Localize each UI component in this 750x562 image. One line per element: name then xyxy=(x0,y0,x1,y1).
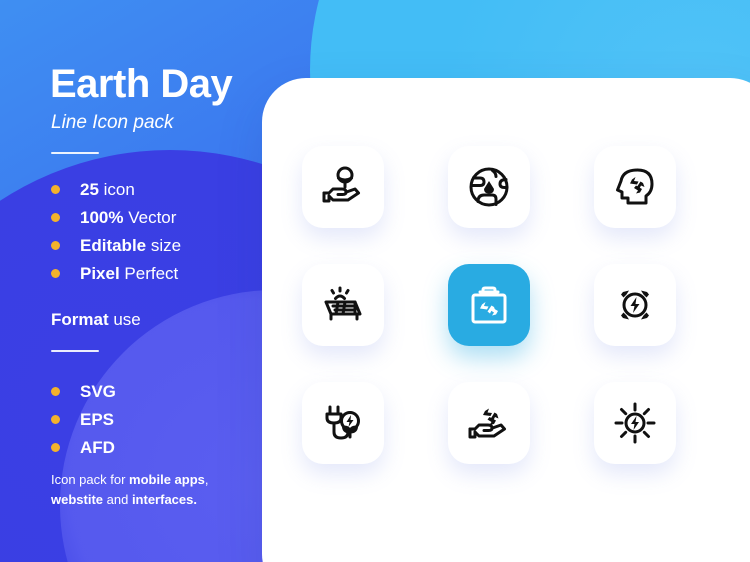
list-item: 25 icon xyxy=(51,176,181,203)
feature-text: Editable size xyxy=(80,236,181,256)
solar-sun-energy-icon xyxy=(611,399,659,447)
poster: Earth Day Line Icon pack 25 icon 100% Ve… xyxy=(0,0,750,562)
globe-water-drop-icon xyxy=(465,163,513,211)
format-list: SVG EPS AFD xyxy=(51,378,116,462)
icon-tile-renewable-energy[interactable] xyxy=(594,264,676,346)
renewable-energy-icon xyxy=(611,281,659,329)
icon-grid xyxy=(302,146,692,464)
page-subtitle: Line Icon pack xyxy=(51,112,174,134)
recycle-bin-icon xyxy=(465,281,513,329)
divider-top xyxy=(51,152,99,154)
icon-tile-recycle-bin[interactable] xyxy=(448,264,530,346)
icon-tile-solar-sun-energy[interactable] xyxy=(594,382,676,464)
list-item: Editable size xyxy=(51,232,181,259)
footer-description: Icon pack for mobile apps, webstite and … xyxy=(51,470,251,509)
bullet-dot-icon xyxy=(51,241,60,250)
page-title: Earth Day xyxy=(50,62,232,107)
divider-bottom xyxy=(51,350,99,352)
feature-text: Pixel Perfect xyxy=(80,264,178,284)
icon-tile-solar-panel[interactable] xyxy=(302,264,384,346)
icon-tile-eco-plug-leaf[interactable] xyxy=(302,382,384,464)
hand-holding-globe-icon xyxy=(318,162,368,212)
feature-text: 100% Vector xyxy=(80,208,176,228)
list-item: EPS xyxy=(51,406,116,433)
list-item: 100% Vector xyxy=(51,204,181,231)
feature-text: 25 icon xyxy=(80,180,135,200)
format-heading: Format use xyxy=(51,310,141,330)
icon-tile-hand-recycle[interactable] xyxy=(448,382,530,464)
eco-plug-leaf-icon xyxy=(319,399,367,447)
icon-tile-hand-holding-globe[interactable] xyxy=(302,146,384,228)
icon-tile-globe-water-drop[interactable] xyxy=(448,146,530,228)
format-text: EPS xyxy=(80,410,114,430)
list-item: SVG xyxy=(51,378,116,405)
feature-list: 25 icon 100% Vector Editable size Pixel … xyxy=(51,176,181,288)
head-recycle-icon xyxy=(611,163,659,211)
list-item: Pixel Perfect xyxy=(51,260,181,287)
list-item: AFD xyxy=(51,434,116,461)
bullet-dot-icon xyxy=(51,213,60,222)
icon-tile-head-recycle[interactable] xyxy=(594,146,676,228)
hand-recycle-icon xyxy=(464,398,514,448)
bullet-dot-icon xyxy=(51,443,60,452)
bullet-dot-icon xyxy=(51,387,60,396)
bullet-dot-icon xyxy=(51,185,60,194)
format-text: SVG xyxy=(80,382,116,402)
format-text: AFD xyxy=(80,438,115,458)
info-panel: Earth Day Line Icon pack 25 icon 100% Ve… xyxy=(0,0,262,562)
bullet-dot-icon xyxy=(51,269,60,278)
solar-panel-icon xyxy=(319,281,367,329)
bullet-dot-icon xyxy=(51,415,60,424)
